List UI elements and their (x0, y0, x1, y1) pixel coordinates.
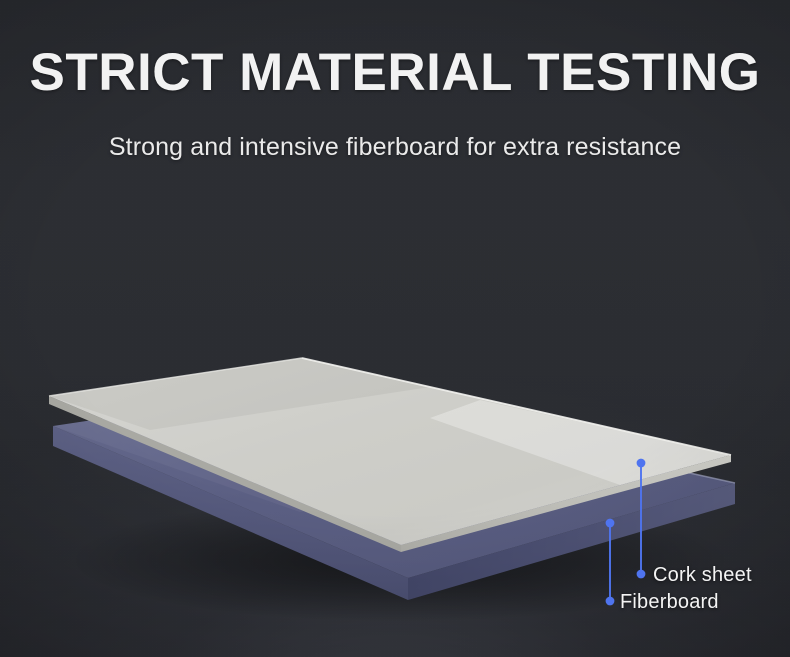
promo-banner: STRICT MATERIAL TESTING Strong and inten… (0, 0, 790, 657)
page-subtitle: Strong and intensive fiberboard for extr… (0, 133, 790, 162)
callout-label-fiberboard: Fiberboard (620, 591, 719, 614)
callout-label-cork-sheet: Cork sheet (653, 564, 752, 587)
page-title: STRICT MATERIAL TESTING (0, 45, 790, 101)
